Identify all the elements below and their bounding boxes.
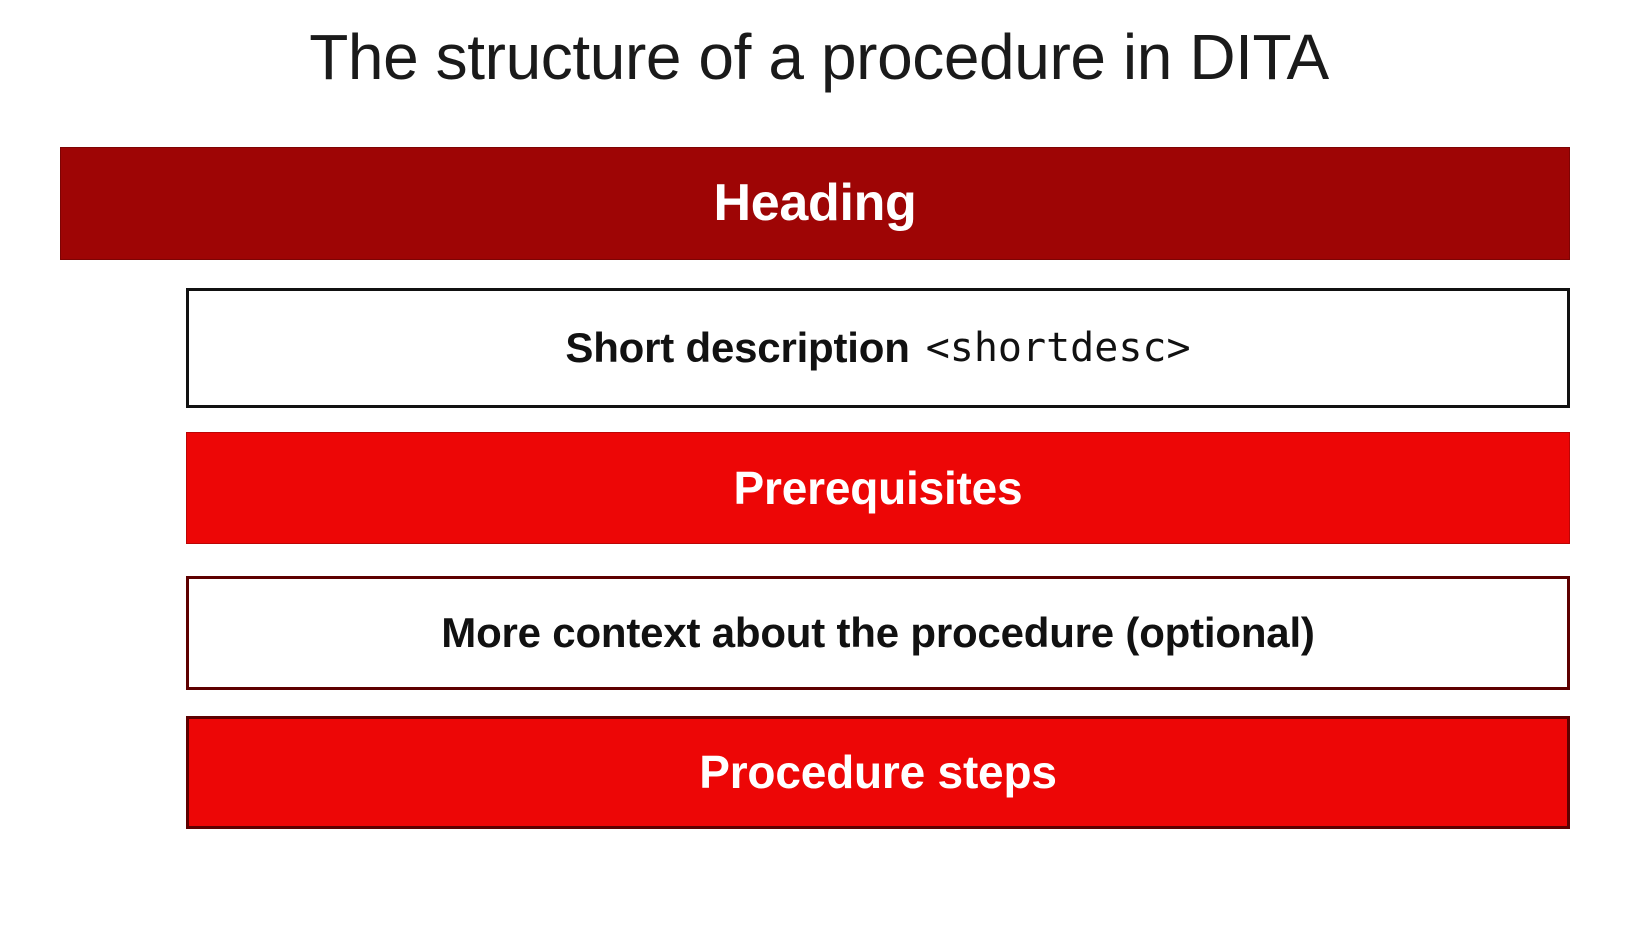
heading-band-label: Heading xyxy=(713,175,916,232)
shortdesc-band-label: Short description xyxy=(565,325,909,371)
slide-canvas: The structure of a procedure in DITA Hea… xyxy=(0,0,1638,934)
procedure-steps-band-label: Procedure steps xyxy=(699,747,1056,798)
structure-band-shortdesc: Short description <shortdesc> xyxy=(186,288,1570,408)
structure-band-prerequisites: Prerequisites xyxy=(186,432,1570,544)
structure-band-context: More context about the procedure (option… xyxy=(186,576,1570,690)
shortdesc-element-tag: <shortdesc> xyxy=(926,326,1191,370)
prerequisites-band-label: Prerequisites xyxy=(734,463,1023,514)
structure-band-procedure-steps: Procedure steps xyxy=(186,716,1570,829)
structure-band-heading: Heading xyxy=(60,147,1570,260)
page-title: The structure of a procedure in DITA xyxy=(0,22,1638,94)
context-band-label: More context about the procedure (option… xyxy=(441,610,1314,656)
